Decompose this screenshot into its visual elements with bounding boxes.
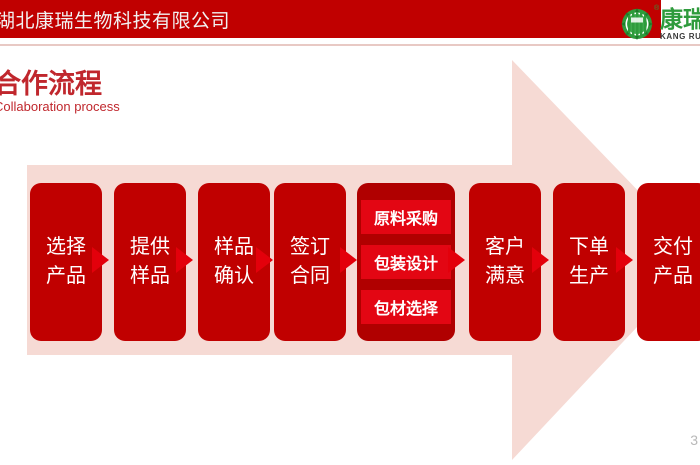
flow-step-label: 产品 [46,262,86,291]
flow-step-deliver-product[interactable]: 交付 产品 [637,183,700,341]
logo-english-name: KANG RUI [660,33,700,41]
flow-step-label: 客户 [485,233,525,262]
flow-step-production-prep[interactable]: 原料采购 包装设计 包材选择 [357,183,455,341]
flow-step-label: 满意 [485,262,525,291]
company-logo: ® 康瑞 KANG RUI [618,4,700,44]
flow-step-customer-satisfied[interactable]: 客户 满意 [469,183,541,341]
flow-connector-arrow-icon [616,247,633,273]
flow-connector-arrow-icon [532,247,549,273]
flow-step-label: 选择 [46,233,86,262]
flow-step-label: 样品 [214,233,254,262]
kangrui-emblem-icon [618,5,656,43]
flow-step-label: 生产 [569,262,609,291]
flow-step-sign-contract[interactable]: 签订 合同 [274,183,346,341]
flow-connector-arrow-icon [92,247,109,273]
flow-step-label: 确认 [214,262,254,291]
flow-substep-label: 原料采购 [361,200,451,234]
flow-step-label: 签订 [290,233,330,262]
flow-step-order-production[interactable]: 下单 生产 [553,183,625,341]
flow-substep-label: 包装设计 [361,245,451,279]
flow-connector-arrow-icon [340,247,357,273]
flow-connector-arrow-icon [176,247,193,273]
registered-trademark-icon: ® [654,5,659,12]
flow-step-label: 合同 [290,262,330,291]
flow-step-label: 交付 [653,233,693,262]
flow-step-label: 下单 [569,233,609,262]
page-number: 3 [690,432,698,448]
flow-step-label: 产品 [653,262,693,291]
flow-connector-arrow-icon [448,247,465,273]
flow-substep-label: 包材选择 [361,290,451,324]
flow-step-label: 提供 [130,233,170,262]
flow-step-label: 样品 [130,262,170,291]
flow-connector-arrow-icon [256,247,273,273]
logo-chinese-name: 康瑞 [660,8,700,31]
header-divider [0,44,700,46]
company-name: 湖北康瑞生物科技有限公司 [0,6,230,33]
